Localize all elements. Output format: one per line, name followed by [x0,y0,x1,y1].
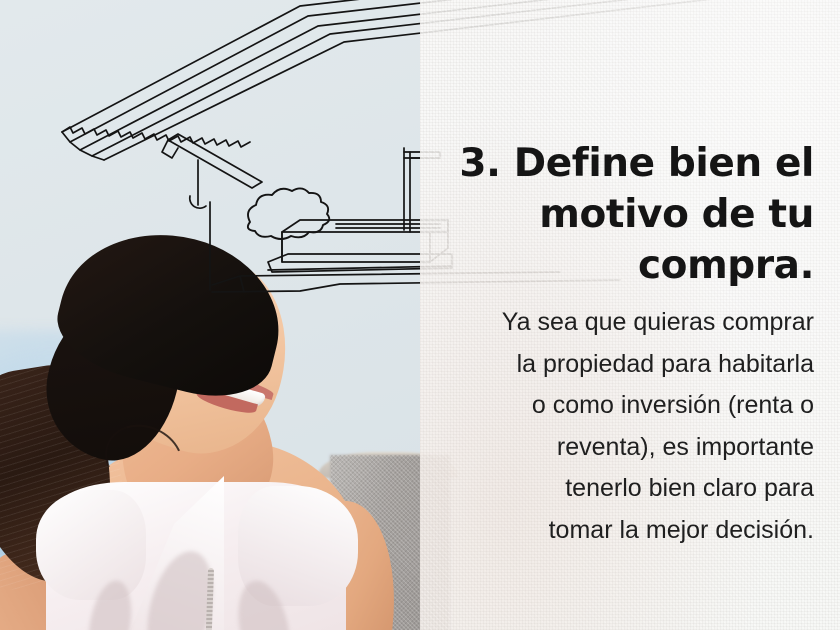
page-title: 3. Define bien el motivo de tu compra. [444,138,814,291]
woman-portrait [0,250,430,630]
shoulder-left [36,490,146,600]
slide-canvas: 3. Define bien el motivo de tu compra. Y… [0,0,840,630]
body-paragraph: Ya sea que quieras comprar la propiedad … [440,302,814,551]
text-content: 3. Define bien el motivo de tu compra. Y… [430,0,822,630]
